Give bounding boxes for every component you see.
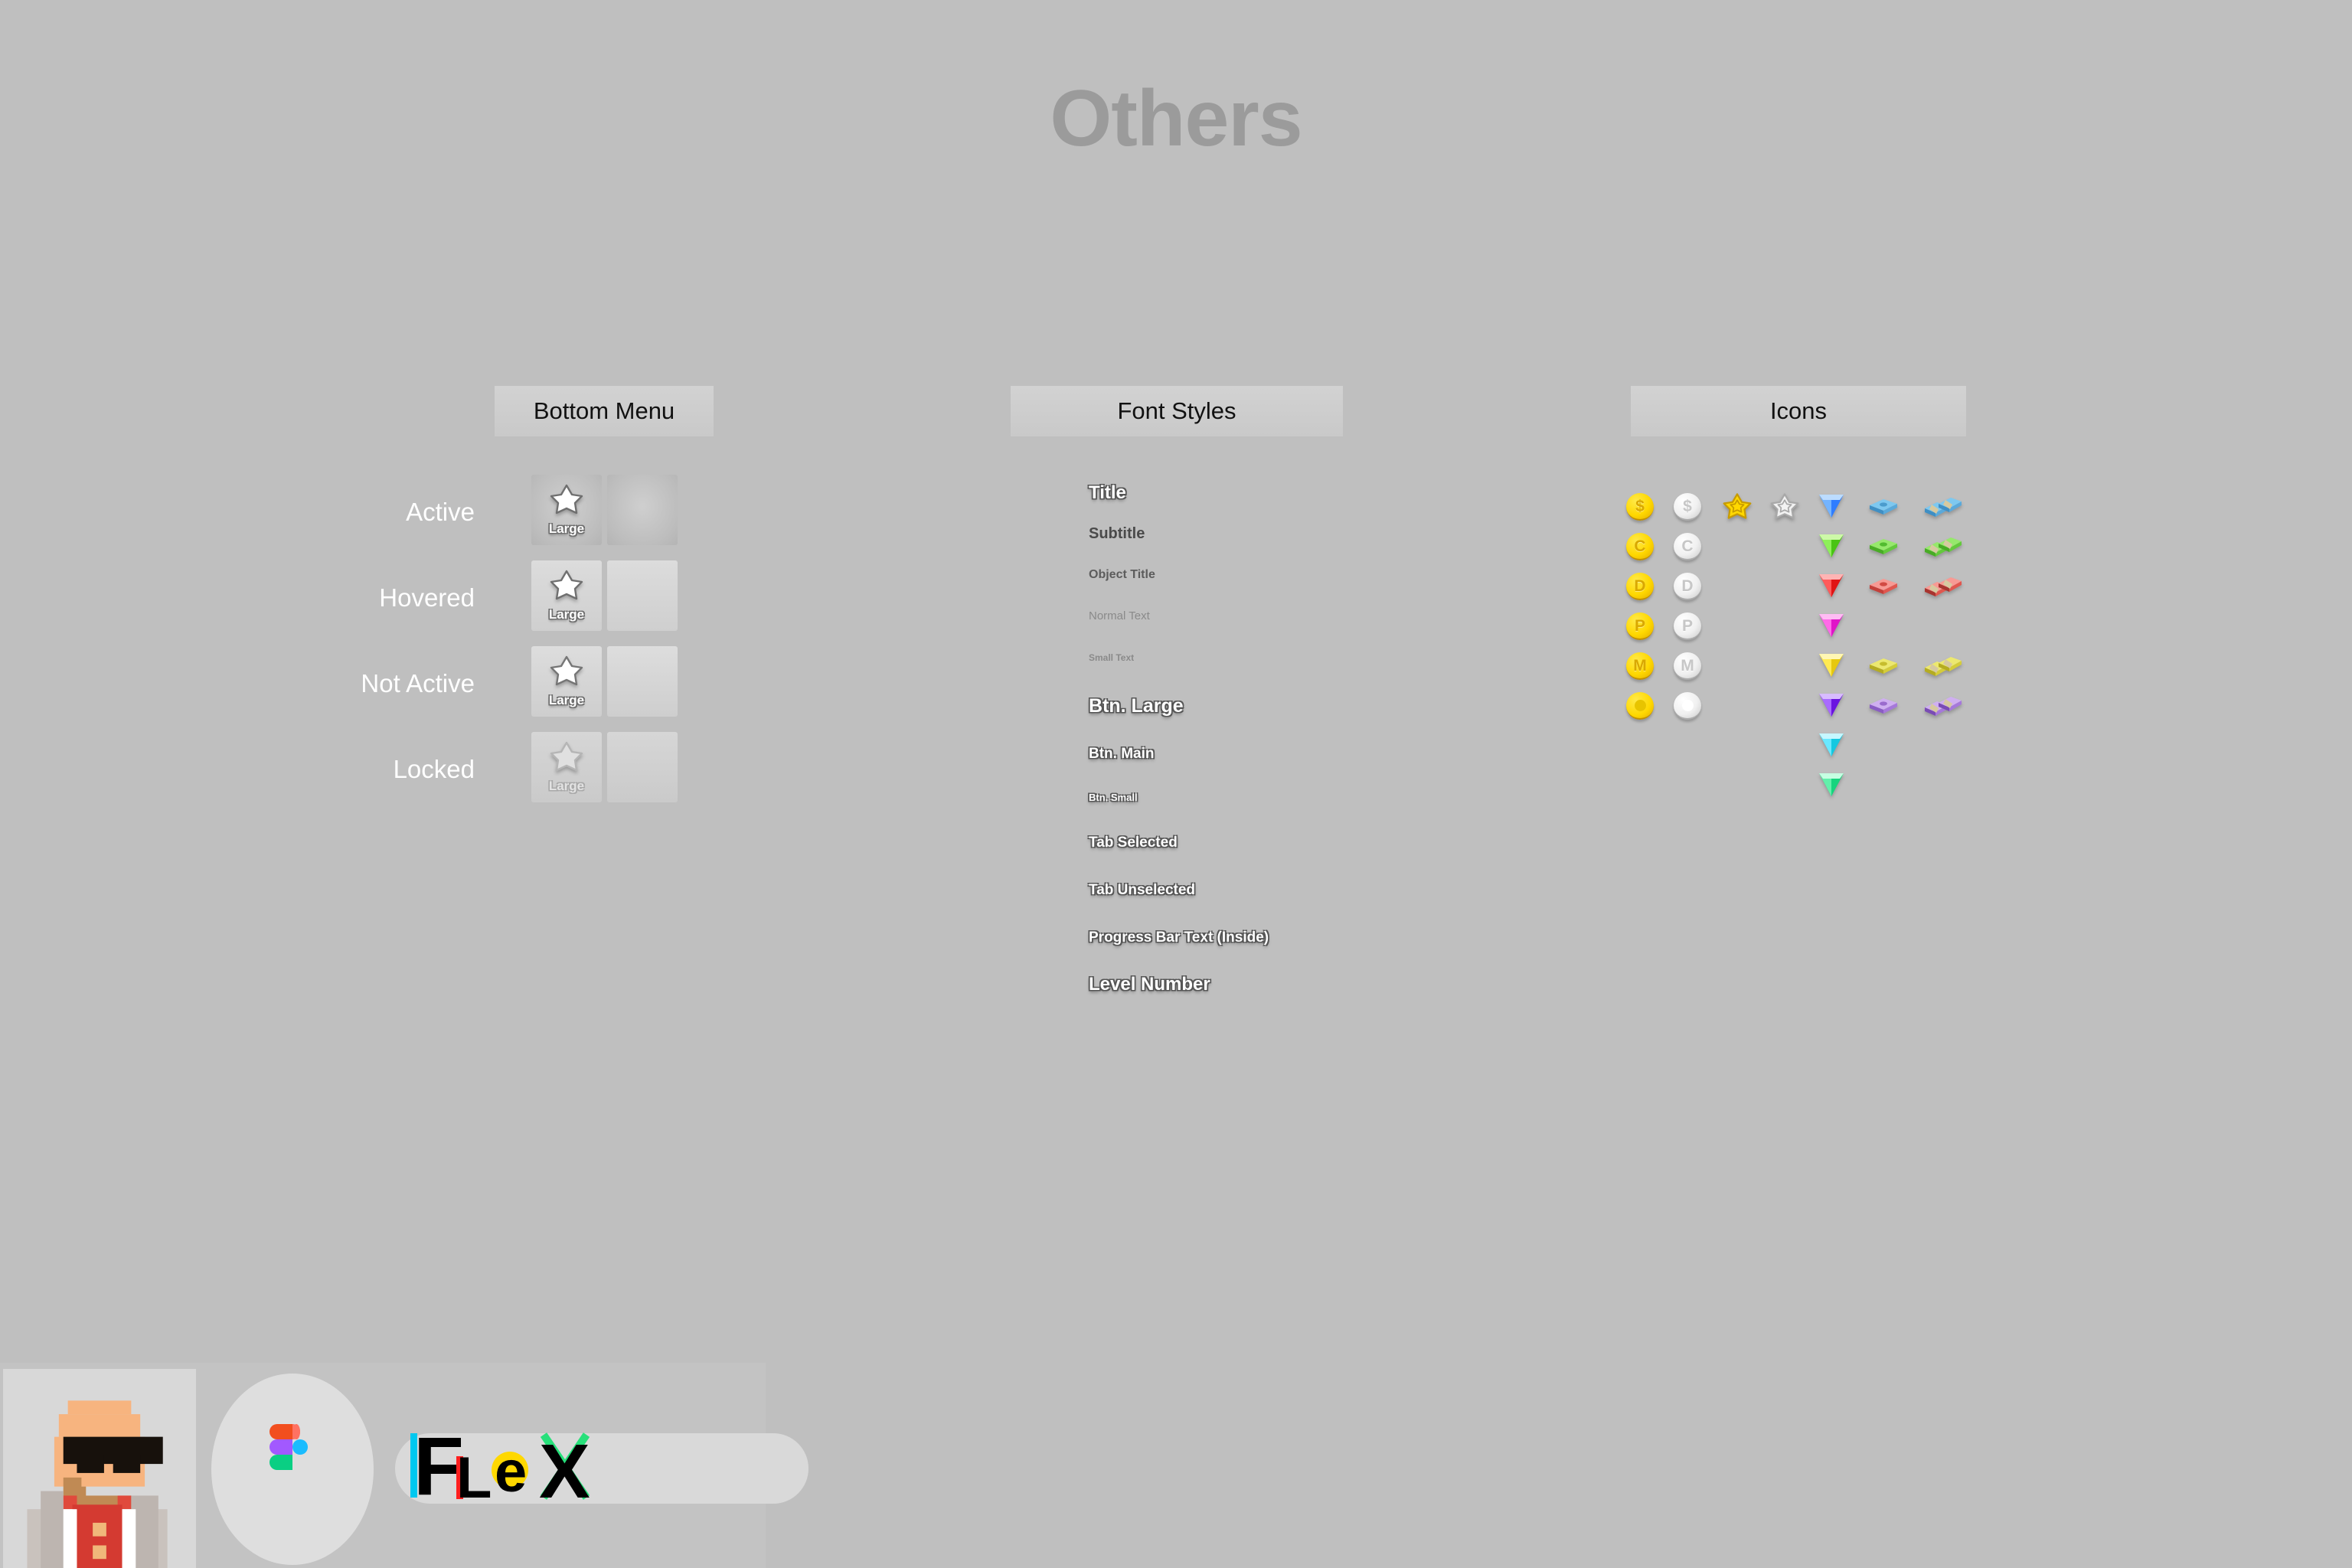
menu-tile-locked-star[interactable]: Large (531, 732, 602, 802)
bottom-menu-section: Active Large Hovered Large Not Active (337, 475, 720, 818)
coin-label: C (1674, 533, 1701, 560)
icon-gold-star[interactable] (1723, 492, 1756, 525)
icon-yellow-money-pile[interactable] (1922, 652, 1968, 686)
menu-tile-not-active-empty[interactable] (607, 646, 678, 717)
font-style-small-text: Small Text (1089, 652, 1134, 663)
font-style-tab-unselected: Tab Unselected (1089, 882, 1195, 899)
icon-magenta-gem[interactable] (1816, 611, 1850, 645)
section-header-icons: Icons (1631, 386, 1966, 436)
icon-red-gem[interactable] (1816, 571, 1850, 605)
bottom-menu-row-not-active: Not Active Large (337, 646, 720, 732)
font-style-subtitle: Subtitle (1089, 525, 1145, 543)
icon-red-money-pile[interactable] (1922, 573, 1968, 606)
svg-text:X: X (539, 1429, 590, 1510)
bottom-menu-row-locked: Locked Large (337, 732, 720, 818)
figma-logo (211, 1374, 374, 1565)
icon-silver-coin-p[interactable]: P (1674, 612, 1707, 646)
avatar (3, 1369, 196, 1568)
coin-ring-shape (1626, 692, 1654, 720)
coin-label: C (1626, 533, 1654, 560)
icon-blue-gem[interactable] (1816, 492, 1850, 525)
menu-tile-active-empty[interactable] (607, 475, 678, 545)
font-style-normal-text: Normal Text (1089, 609, 1150, 622)
icon-silver-coin-m[interactable]: M (1674, 652, 1707, 686)
star-icon (531, 740, 602, 776)
tile-caption: Large (531, 521, 602, 537)
menu-tile-locked-empty[interactable] (607, 732, 678, 802)
icon-silver-coin-c[interactable]: C (1674, 533, 1707, 567)
section-header-bottom-menu: Bottom Menu (495, 386, 714, 436)
coin-label: P (1674, 612, 1701, 640)
row-label-locked: Locked (394, 755, 475, 784)
coin-label: $ (1626, 493, 1654, 521)
icon-gold-coin-p[interactable]: P (1626, 612, 1660, 646)
tile-caption: Large (531, 693, 602, 708)
font-style-btn-large: Btn. Large (1089, 695, 1184, 717)
tile-caption: Large (531, 607, 602, 622)
font-style-tab-selected: Tab Selected (1089, 835, 1178, 851)
icon-blue-money-pile[interactable] (1922, 493, 1968, 527)
font-style-progress-bar-text: Progress Bar Text (Inside) (1089, 929, 1269, 946)
row-label-active: Active (406, 498, 475, 527)
icon-gold-coin-c[interactable]: C (1626, 533, 1660, 567)
icon-silver-coin-dollar[interactable]: $ (1674, 493, 1707, 527)
font-style-object-title: Object Title (1089, 568, 1155, 582)
coin-label: P (1626, 612, 1654, 640)
icon-silver-coin-d[interactable]: D (1674, 573, 1707, 606)
icon-silver-coin-o[interactable] (1674, 692, 1707, 726)
menu-tile-active-star[interactable]: Large (531, 475, 602, 545)
icon-yellow-gem[interactable] (1816, 651, 1850, 684)
icon-gold-coin-dollar[interactable]: $ (1626, 493, 1660, 527)
coin-ring-shape (1674, 692, 1701, 720)
section-header-font-styles: Font Styles (1011, 386, 1343, 436)
bottom-menu-row-hovered: Hovered Large (337, 560, 720, 646)
coin-label: M (1674, 652, 1701, 680)
coin-label: D (1626, 573, 1654, 600)
footer: F L e X UI ANDREY ANDRIEVICH 2024 with l… (0, 1363, 2352, 1568)
menu-tile-hovered-empty[interactable] (607, 560, 678, 631)
row-label-not-active: Not Active (361, 669, 475, 698)
icon-cyan-gem[interactable] (1816, 730, 1850, 764)
font-style-btn-main: Btn. Main (1089, 746, 1155, 763)
coin-label: M (1626, 652, 1654, 680)
icon-yellow-money-stack[interactable] (1865, 655, 1899, 689)
icon-blue-money-stack[interactable] (1865, 496, 1899, 530)
font-style-title: Title (1089, 482, 1126, 504)
coin-label: $ (1674, 493, 1701, 521)
star-icon (531, 569, 602, 605)
page-title: Others (0, 73, 2352, 165)
flex-logo: F L e X (409, 1418, 631, 1514)
coin-label: D (1674, 573, 1701, 600)
menu-tile-not-active-star[interactable]: Large (531, 646, 602, 717)
bottom-menu-row-active: Active Large (337, 475, 720, 560)
icon-gold-coin-o[interactable] (1626, 692, 1660, 726)
icon-purple-money-pile[interactable] (1922, 692, 1968, 726)
row-label-hovered: Hovered (379, 583, 475, 612)
tile-caption: Large (531, 779, 602, 794)
star-icon (531, 655, 602, 691)
icons-section: $ C D P M $ C D P M (1615, 490, 1983, 812)
icon-gold-coin-m[interactable]: M (1626, 652, 1660, 686)
icon-purple-money-stack[interactable] (1865, 695, 1899, 729)
menu-tile-hovered-star[interactable]: Large (531, 560, 602, 631)
icon-purple-gem[interactable] (1816, 691, 1850, 724)
icon-red-money-stack[interactable] (1865, 576, 1899, 609)
font-style-btn-small: Btn. Small (1089, 792, 1138, 803)
svg-text:L: L (456, 1445, 492, 1510)
icon-green-gem[interactable] (1816, 531, 1850, 565)
icon-gold-coin-d[interactable]: D (1626, 573, 1660, 606)
font-style-level-number: Level Number (1089, 974, 1210, 995)
icon-silver-star[interactable] (1770, 492, 1804, 525)
star-icon (531, 483, 602, 519)
svg-text:e: e (495, 1439, 527, 1504)
icon-green-money-stack[interactable] (1865, 536, 1899, 570)
icon-green-money-pile[interactable] (1922, 533, 1968, 567)
icon-mint-gem[interactable] (1816, 770, 1850, 804)
